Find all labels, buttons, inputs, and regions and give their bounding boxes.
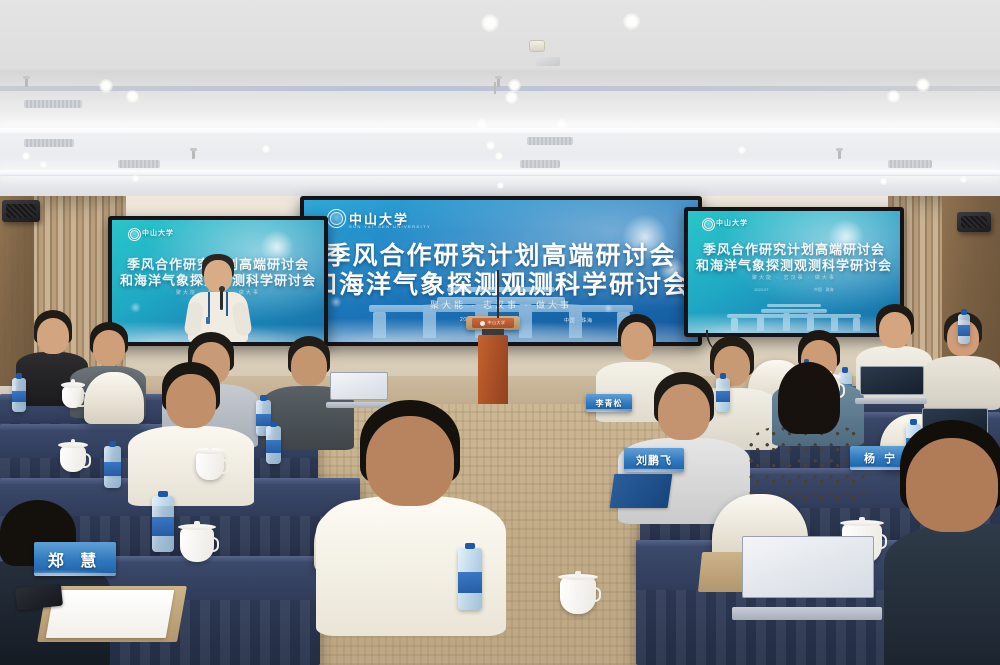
- podium-top: 中山大学: [466, 316, 520, 330]
- teacup: [62, 386, 84, 408]
- water-bottle: [958, 314, 970, 344]
- attendee-head: [93, 330, 125, 366]
- water-bottle: [266, 426, 281, 464]
- downlight: [132, 175, 139, 182]
- attendee-torso: [924, 356, 1000, 410]
- speaker-lanyard: [208, 292, 210, 318]
- downlight: [476, 119, 487, 130]
- sprinkler-head: [25, 78, 28, 87]
- laptop-foreground: [742, 536, 872, 620]
- right-screen-location: 中国 · 珠海: [814, 287, 834, 293]
- attendee-row3-left: [128, 362, 254, 502]
- right-screen-university-name: 中山大学: [716, 218, 748, 228]
- microphone-icon: [220, 290, 223, 310]
- attendee-torso: [884, 524, 1000, 665]
- laptop-screen: [860, 366, 924, 395]
- downlight: [495, 152, 503, 160]
- podium-plaque: 中山大学: [472, 318, 513, 328]
- podium-plaque-text: 中山大学: [487, 320, 505, 326]
- attendee-head: [366, 416, 454, 506]
- downlight: [262, 145, 270, 153]
- podium-emblem-icon: [480, 321, 485, 326]
- podium: 中山大学: [466, 316, 520, 412]
- downlight: [481, 14, 499, 32]
- downlight: [22, 152, 30, 160]
- attendee-head: [906, 438, 998, 532]
- downlight: [126, 90, 139, 103]
- ceiling-vent: [520, 160, 560, 168]
- right-screen-crest-icon: [702, 218, 715, 231]
- left-screen-crest-icon: [128, 228, 141, 241]
- projector-hanger: [494, 82, 496, 94]
- attendee-head: [291, 346, 327, 386]
- podium-microphone: [497, 270, 499, 318]
- name-placard-mid-right: 刘鹏飞: [624, 448, 684, 472]
- downlight: [960, 176, 967, 183]
- university-crest-icon: [327, 209, 346, 228]
- water-bottle: [12, 378, 26, 412]
- left-screen-university-name: 中山大学: [142, 228, 174, 238]
- conference-booklet: [610, 474, 673, 508]
- university-name-en: SUN YAT-SEN UNIVERSITY: [349, 225, 431, 229]
- right-screen-subtitle: 聚大能 · 志汉事 · 做大事: [688, 274, 900, 281]
- speaker-video-feed: [174, 250, 262, 342]
- downlight: [505, 91, 518, 104]
- attendee-head: [879, 312, 911, 348]
- wall-speaker-right: [957, 212, 991, 232]
- attendee-head: [658, 384, 710, 440]
- ceiling-reveal-strip: [0, 86, 1000, 91]
- ceiling-vent: [527, 137, 573, 145]
- laptop-screen: [330, 372, 388, 400]
- ceiling-vent: [118, 160, 160, 168]
- ceiling-vent: [24, 139, 74, 147]
- smoke-detector: [529, 40, 545, 52]
- speaker-badge: [206, 317, 210, 324]
- teacup: [560, 578, 596, 614]
- attendee-row3-right-woman: [748, 362, 868, 504]
- notepad: [46, 590, 174, 638]
- right-screen-title-line2: 和海洋气象探测观测科学研讨会: [688, 255, 900, 274]
- air-diffuser: [536, 57, 560, 66]
- attendee-head: [621, 322, 653, 360]
- downlight: [497, 182, 504, 189]
- downlight: [916, 78, 930, 92]
- ceiling-vent: [888, 160, 932, 168]
- water-bottle: [458, 548, 482, 610]
- laptop-screen: [742, 536, 874, 598]
- attendee-head: [166, 374, 216, 428]
- downlight: [738, 146, 746, 154]
- attendee-head: [37, 318, 69, 354]
- ceiling: [0, 0, 1000, 200]
- water-bottle: [152, 496, 174, 552]
- downlight: [623, 13, 640, 30]
- downlight: [40, 161, 47, 168]
- right-screen-date: 2023.07: [754, 287, 768, 292]
- downlight: [556, 119, 567, 130]
- cove-light-lower: [0, 170, 1000, 176]
- downlight: [887, 90, 900, 103]
- sprinkler-head: [192, 150, 195, 159]
- name-placard-front-left: 郑 慧: [34, 542, 116, 576]
- conference-hall-photo: 中山大学 SUN YAT-SEN UNIVERSITY 季风合作研究计划高端研讨…: [0, 0, 1000, 665]
- downlight: [99, 79, 113, 93]
- attendee-foreground-right: [884, 420, 1000, 665]
- sprinkler-head: [497, 78, 500, 87]
- bokeh-dot: [130, 302, 141, 313]
- speaker-head: [204, 260, 232, 292]
- teacup: [180, 528, 214, 562]
- attendee-torso: [128, 426, 254, 506]
- ceiling-vent: [24, 100, 82, 108]
- teacup: [60, 446, 86, 472]
- attendee-hair: [778, 362, 840, 434]
- teacup: [196, 452, 224, 480]
- right-screen-gate-illustration: [719, 297, 869, 331]
- sprinkler-head: [838, 150, 841, 159]
- downlight: [486, 141, 495, 150]
- downlight: [880, 178, 887, 185]
- laptop: [860, 366, 922, 404]
- speaker-lanyard: [226, 292, 228, 316]
- water-bottle: [104, 446, 121, 488]
- wall-speaker-left: [2, 200, 40, 222]
- podium-body: [478, 335, 508, 406]
